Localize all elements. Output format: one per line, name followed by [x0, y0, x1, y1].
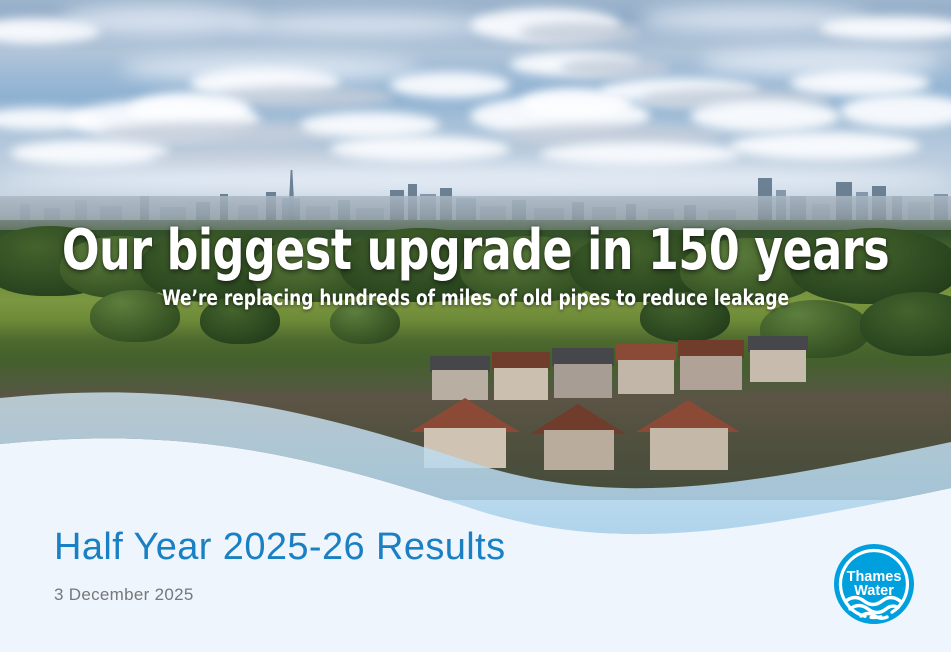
house-wall — [544, 430, 614, 470]
slide-title-block: Half Year 2025-26 Results 3 December 202… — [54, 524, 506, 606]
thames-water-logo[interactable]: Thames Water — [833, 543, 915, 625]
house-wall — [650, 428, 728, 470]
presentation-slide: Our biggest upgrade in 150 years We’re r… — [0, 0, 951, 652]
hero-headline: Our biggest upgrade in 150 years — [57, 222, 894, 280]
page-title: Half Year 2025-26 Results — [54, 524, 506, 570]
cloud-shape — [300, 112, 440, 138]
cloud-shape — [790, 70, 930, 96]
house-wall — [554, 364, 612, 398]
cloud-shape — [60, 5, 260, 35]
hero-image: Our biggest upgrade in 150 years We’re r… — [0, 0, 951, 500]
cloud-shape — [390, 72, 510, 98]
house-wall — [432, 370, 488, 400]
house-wall — [424, 428, 506, 468]
hero-text-block: Our biggest upgrade in 150 years We’re r… — [0, 222, 951, 310]
cloud-shape — [840, 94, 951, 128]
cloud-shape — [690, 100, 840, 132]
cloud-shape — [520, 22, 640, 44]
house-wall — [680, 356, 742, 390]
house-wall — [618, 360, 674, 394]
hero-subheadline: We’re replacing hundreds of miles of old… — [48, 286, 904, 310]
cloud-shape — [730, 132, 920, 160]
house-wall — [750, 350, 806, 382]
house-wall — [494, 368, 548, 400]
cloud-shape — [820, 16, 951, 40]
cloud-shape — [520, 88, 630, 120]
cloud-shape — [560, 58, 670, 78]
sky-layer — [0, 0, 951, 220]
presentation-date: 3 December 2025 — [54, 584, 506, 606]
cloud-shape — [230, 12, 490, 36]
